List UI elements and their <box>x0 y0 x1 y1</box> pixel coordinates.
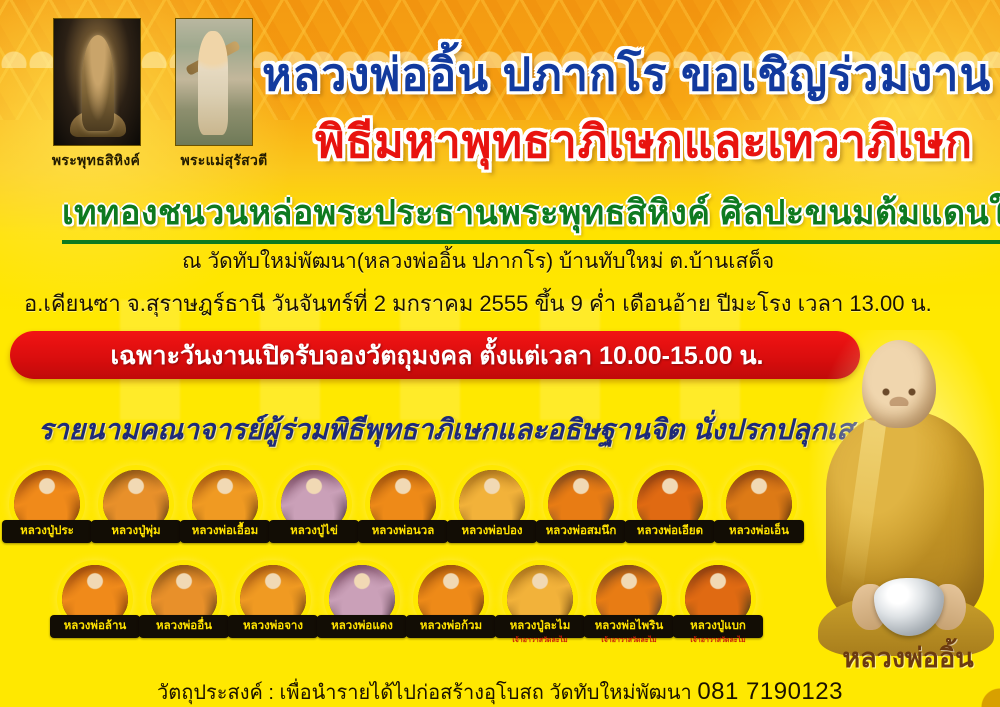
monk-list-subtitle: รายนามคณาจารย์ผู้ร่วมพิธีพุทธาภิเษกและอธ… <box>38 408 870 452</box>
monk-name-label: หลวงพ่อแดง <box>317 615 407 638</box>
main-monk-head <box>862 340 936 428</box>
main-monk-portrait: หลวงพ่ออิ้น <box>818 336 994 666</box>
monk-portrait: หลวงพ่อไพรินเจ้าอาวาสวัดละไม <box>596 565 662 633</box>
monk-name-label: หลวงพ่อเอ็น <box>714 520 804 543</box>
monk-portrait: หลวงพ่อปอง <box>459 470 525 538</box>
monk-sub-caption: เจ้าอาวาสวัดละไม <box>582 635 676 646</box>
headline-ceremony: พิธีมหาพุทธาภิเษกและเทวาภิเษก <box>315 105 973 177</box>
contact-phone[interactable]: 081 7190123 <box>697 678 843 705</box>
monk-portrait: หลวงปู่ประ <box>14 470 80 538</box>
monk-portrait: หลวงพ่อเอียด <box>637 470 703 538</box>
buddha-statue-caption: พระพุทธสิหิงค์ <box>26 150 166 172</box>
monk-portrait: หลวงพ่อเอื้อม <box>192 470 258 538</box>
monk-portrait: หลวงปู่ละไมเจ้าอาวาสวัดละไม <box>507 565 573 633</box>
monk-portrait: หลวงพ่อสมนึก <box>548 470 614 538</box>
monk-name-label: หลวงพ่อเอื้อม <box>180 520 270 543</box>
date-time-line: อ.เคียนซา จ.สุราษฎร์ธานี วันจันทร์ที่ 2 … <box>24 286 932 321</box>
monk-name-label: หลวงพ่อจาง <box>228 615 318 638</box>
monk-sub-caption: เจ้าอาวาสวัดละไม <box>671 635 765 646</box>
footer-purpose-line: วัตถุประสงค์ : เพื่อนำรายได้ไปก่อสร้างอุ… <box>0 676 1000 707</box>
monk-portrait: หลวงปู่แบกเจ้าอาวาสวัดละไม <box>685 565 751 633</box>
headline-invitation: หลวงพ่ออิ้น ปภากโร ขอเชิญร่วมงาน <box>262 38 991 110</box>
monk-portrait: หลวงพ่อล้าน <box>62 565 128 633</box>
monk-name-label: หลวงพ่ออื่น <box>139 615 229 638</box>
monk-portrait: หลวงพ่อเอ็น <box>726 470 792 538</box>
poster-canvas: พระพุทธสิหิงค์ พระแม่สุรัสวตี หลวงพ่ออิ้… <box>0 0 1000 707</box>
saraswati-image <box>175 18 253 146</box>
booking-banner-text: เฉพาะวันงานเปิดรับจองวัตถุมงคล ตั้งแต่เว… <box>22 336 852 376</box>
monk-name-label: หลวงปู่พุ่ม <box>91 520 181 543</box>
monk-name-label: หลวงพ่อก้วม <box>406 615 496 638</box>
monk-sub-caption: เจ้าอาวาสวัดละไม <box>493 635 587 646</box>
monk-name-label: หลวงพ่อล้าน <box>50 615 140 638</box>
footer-text: วัตถุประสงค์ : เพื่อนำรายได้ไปก่อสร้างอุ… <box>157 682 692 704</box>
corner-ornament <box>956 671 1000 707</box>
monk-portrait: หลวงพ่อนวล <box>370 470 436 538</box>
venue-line: ณ วัดทับใหม่พัฒนา(หลวงพ่ออิ้น ปภากโร) บ้… <box>182 245 774 278</box>
monk-name-label: หลวงพ่อสมนึก <box>536 520 626 543</box>
saraswati-caption: พระแม่สุรัสวตี <box>162 150 286 172</box>
headline-casting: เททองชนวนหล่อพระประธานพระพุทธสิหิงค์ ศิล… <box>62 185 1000 244</box>
buddha-statue-image <box>53 18 141 146</box>
monk-name-label: หลวงพ่อปอง <box>447 520 537 543</box>
monk-portrait: หลวงพ่อแดง <box>329 565 395 633</box>
monk-portrait: หลวงปู่ไข่ <box>281 470 347 538</box>
monk-portrait: หลวงปู่พุ่ม <box>103 470 169 538</box>
monk-name-label: หลวงปู่ไข่ <box>269 520 359 543</box>
monk-portrait: หลวงพ่ออื่น <box>151 565 217 633</box>
monk-portrait: หลวงพ่อก้วม <box>418 565 484 633</box>
monk-name-label: หลวงพ่อเอียด <box>625 520 715 543</box>
monk-name-label: หลวงปู่ประ <box>2 520 92 543</box>
monk-portrait: หลวงพ่อจาง <box>240 565 306 633</box>
monk-name-label: หลวงพ่อนวล <box>358 520 448 543</box>
